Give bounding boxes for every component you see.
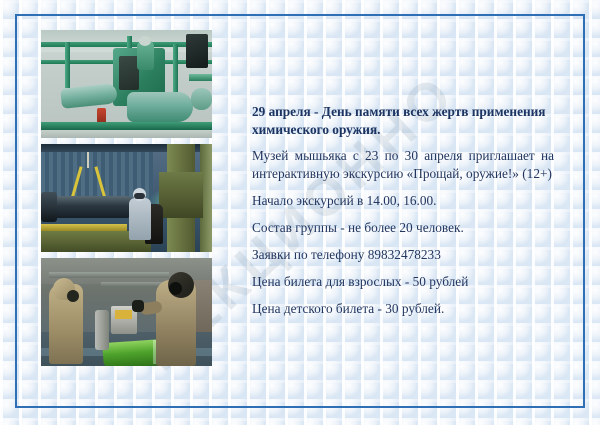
announcement-heading: 29 апреля - День памяти всех жертв приме…: [252, 103, 554, 138]
photo-2-scene: [41, 144, 212, 252]
announcement-paragraph-adult-price: Цена билета для взрослых - 50 рублей: [252, 273, 554, 291]
poster-content: Зелёное промышленное оборудование и корп…: [0, 0, 600, 425]
photo-column: Зелёное промышленное оборудование и корп…: [41, 30, 212, 366]
photo-worker-hoisting-munition: Рабочий в защитном костюме у крана с тём…: [41, 144, 212, 252]
announcement-text-column: 29 апреля - День памяти всех жертв приме…: [252, 103, 554, 318]
announcement-paragraph-phone: Заявки по телефону 89832478233: [252, 246, 554, 264]
photo-hazmat-workers-pipeline: Двое рабочих в защитных костюмах и проти…: [41, 258, 212, 366]
photo-3-scene: [41, 258, 212, 366]
photo-chemical-weapons-destruction-line: Зелёное промышленное оборудование и корп…: [41, 30, 212, 138]
announcement-paragraph-tour-invitation: Музей мышьяка с 23 по 30 апреля приглаша…: [252, 147, 554, 183]
announcement-poster: ЛЕКЦИОННО: [0, 0, 600, 425]
announcement-paragraph-start-times: Начало экскурсий в 14.00, 16.00.: [252, 192, 554, 210]
photo-1-scene: [41, 30, 212, 138]
announcement-paragraph-child-price: Цена детского билета - 30 рублей.: [252, 300, 554, 318]
announcement-paragraph-group-size: Состав группы - не более 20 человек.: [252, 219, 554, 237]
